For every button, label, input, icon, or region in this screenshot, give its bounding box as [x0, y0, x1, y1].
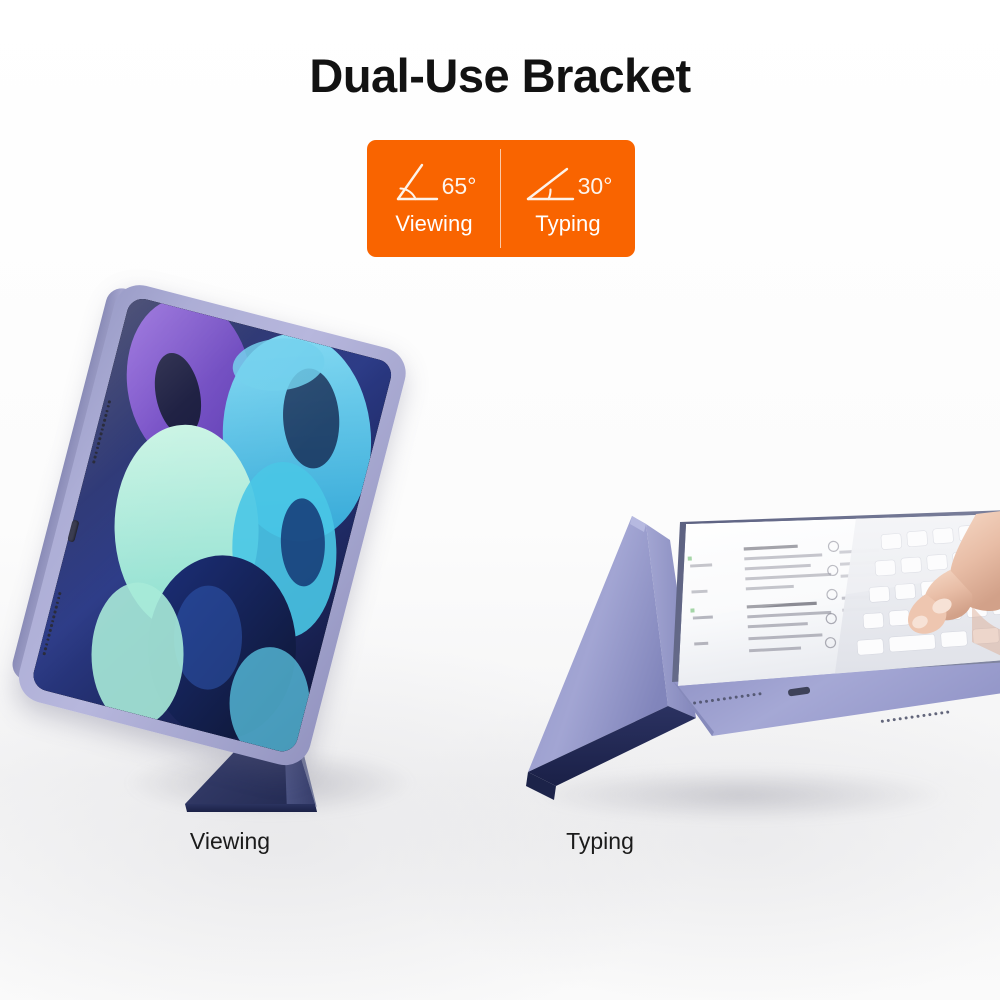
wallpaper	[30, 295, 394, 754]
badge-label-typing: Typing	[535, 211, 600, 237]
badge-label-viewing: Viewing	[395, 211, 472, 237]
angle-30-icon	[524, 159, 576, 207]
tablet-viewing	[13, 279, 411, 770]
page-title: Dual-Use Bracket	[0, 48, 1000, 104]
angle-30-row: 30°	[524, 156, 613, 210]
tablet-typing	[620, 510, 1000, 770]
badge-panel-viewing: 65° Viewing	[367, 140, 501, 257]
angle-30-value: 30°	[578, 175, 613, 198]
angle-65-value: 65°	[442, 175, 477, 198]
tablet-screen-viewing	[30, 295, 394, 754]
angle-65-row: 65°	[392, 156, 477, 210]
scene-viewing	[0, 300, 460, 840]
angle-badge: 65° Viewing 30° Typing	[367, 140, 635, 257]
angle-65-icon	[392, 159, 440, 207]
tablet-case	[13, 279, 411, 770]
scene-typing	[500, 500, 1000, 840]
caption-typing: Typing	[370, 827, 830, 855]
badge-panel-typing: 30° Typing	[501, 140, 635, 257]
